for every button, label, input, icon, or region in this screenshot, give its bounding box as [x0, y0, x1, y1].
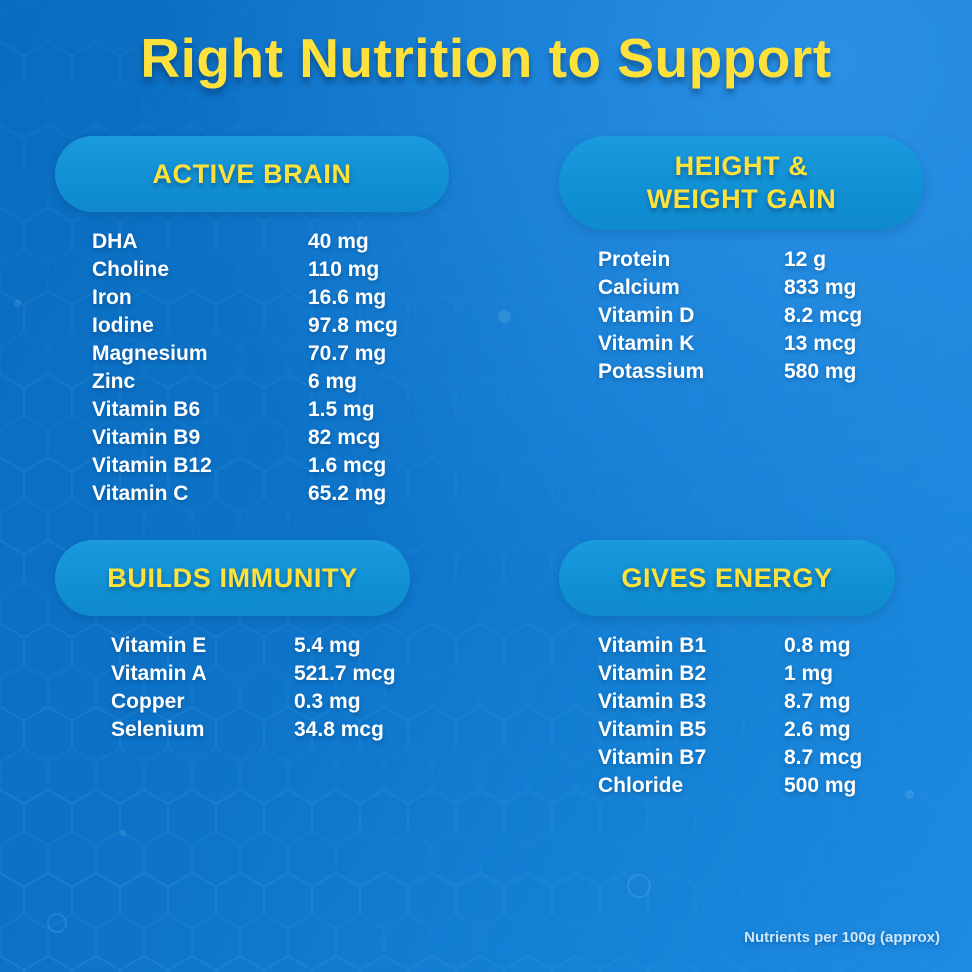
nutrient-amount: 8.7 mcg — [784, 744, 862, 772]
footer-note: Nutrients per 100g (approx) — [744, 929, 940, 946]
decorative-bubble — [120, 830, 126, 836]
decorative-bubble — [47, 913, 67, 933]
card-header-gives-energy: GIVES ENERGY — [559, 540, 895, 616]
nutrient-amount: 1 mg — [784, 660, 833, 688]
nutrient-row: Copper 0.3 mg — [111, 688, 410, 716]
nutrient-name: Vitamin B3 — [598, 688, 784, 716]
card-height-weight-gain: HEIGHT & WEIGHT GAIN Protein 12 g Calciu… — [559, 136, 924, 386]
card-heading-label: HEIGHT & WEIGHT GAIN — [647, 150, 837, 216]
card-header-builds-immunity: BUILDS IMMUNITY — [55, 540, 410, 616]
nutrition-infographic: Right Nutrition to Support ACTIVE BRAIN … — [0, 0, 972, 972]
nutrient-name: Magnesium — [92, 340, 308, 368]
nutrient-row: Vitamin D 8.2 mcg — [598, 302, 924, 330]
nutrient-name: Vitamin B2 — [598, 660, 784, 688]
nutrient-name: Vitamin B12 — [92, 452, 308, 480]
nutrient-name: Vitamin K — [598, 330, 784, 358]
nutrient-amount: 5.4 mg — [294, 632, 361, 660]
nutrient-row: Vitamin C 65.2 mg — [92, 480, 449, 508]
nutrient-name: Potassium — [598, 358, 784, 386]
nutrient-amount: 82 mcg — [308, 424, 380, 452]
nutrient-amount: 13 mcg — [784, 330, 856, 358]
nutrient-name: Chloride — [598, 772, 784, 800]
nutrient-row: Vitamin B2 1 mg — [598, 660, 895, 688]
card-heading-label: BUILDS IMMUNITY — [107, 562, 357, 595]
nutrient-name: Protein — [598, 246, 784, 274]
card-heading-line-2: WEIGHT GAIN — [647, 184, 837, 214]
nutrient-row: Vitamin K 13 mcg — [598, 330, 924, 358]
nutrient-list-gives-energy: Vitamin B1 0.8 mg Vitamin B2 1 mg Vitami… — [559, 632, 895, 800]
nutrient-amount: 110 mg — [308, 256, 379, 284]
nutrient-row: Vitamin B9 82 mcg — [92, 424, 449, 452]
nutrient-name: Vitamin B7 — [598, 744, 784, 772]
nutrient-amount: 40 mg — [308, 228, 369, 256]
nutrient-name: Vitamin B6 — [92, 396, 308, 424]
card-heading-label: GIVES ENERGY — [621, 562, 832, 595]
nutrient-name: Choline — [92, 256, 308, 284]
nutrient-row: Vitamin B6 1.5 mg — [92, 396, 449, 424]
nutrient-list-builds-immunity: Vitamin E 5.4 mg Vitamin A 521.7 mcg Cop… — [55, 632, 410, 744]
nutrient-row: Zinc 6 mg — [92, 368, 449, 396]
nutrient-row: Protein 12 g — [598, 246, 924, 274]
nutrient-row: Vitamin B12 1.6 mcg — [92, 452, 449, 480]
nutrient-row: Vitamin A 521.7 mcg — [111, 660, 410, 688]
nutrient-row: Chloride 500 mg — [598, 772, 895, 800]
nutrient-row: Potassium 580 mg — [598, 358, 924, 386]
card-active-brain: ACTIVE BRAIN DHA 40 mg Choline 110 mg Ir… — [55, 136, 449, 508]
nutrient-name: Selenium — [111, 716, 294, 744]
nutrient-name: Vitamin A — [111, 660, 294, 688]
nutrient-amount: 1.6 mcg — [308, 452, 386, 480]
nutrient-name: Vitamin B5 — [598, 716, 784, 744]
decorative-bubble — [498, 310, 511, 323]
nutrient-amount: 34.8 mcg — [294, 716, 384, 744]
nutrient-row: Magnesium 70.7 mg — [92, 340, 449, 368]
nutrient-row: Vitamin E 5.4 mg — [111, 632, 410, 660]
nutrient-amount: 6 mg — [308, 368, 357, 396]
page-title: Right Nutrition to Support — [0, 26, 972, 90]
nutrient-amount: 0.3 mg — [294, 688, 361, 716]
nutrient-name: Copper — [111, 688, 294, 716]
nutrient-row: Iron 16.6 mg — [92, 284, 449, 312]
nutrient-amount: 0.8 mg — [784, 632, 851, 660]
nutrient-name: Calcium — [598, 274, 784, 302]
nutrient-row: Calcium 833 mg — [598, 274, 924, 302]
nutrient-name: Iodine — [92, 312, 308, 340]
nutrient-amount: 8.7 mg — [784, 688, 851, 716]
nutrient-row: Choline 110 mg — [92, 256, 449, 284]
card-builds-immunity: BUILDS IMMUNITY Vitamin E 5.4 mg Vitamin… — [55, 540, 410, 744]
nutrient-row: Vitamin B5 2.6 mg — [598, 716, 895, 744]
nutrient-row: Vitamin B3 8.7 mg — [598, 688, 895, 716]
nutrient-amount: 70.7 mg — [308, 340, 386, 368]
nutrient-amount: 2.6 mg — [784, 716, 851, 744]
nutrient-name: DHA — [92, 228, 308, 256]
decorative-bubble — [14, 300, 21, 307]
nutrient-name: Vitamin B9 — [92, 424, 308, 452]
card-header-active-brain: ACTIVE BRAIN — [55, 136, 449, 212]
nutrient-name: Iron — [92, 284, 308, 312]
nutrient-amount: 580 mg — [784, 358, 856, 386]
nutrient-name: Vitamin C — [92, 480, 308, 508]
nutrient-amount: 833 mg — [784, 274, 856, 302]
nutrient-row: DHA 40 mg — [92, 228, 449, 256]
nutrient-row: Vitamin B7 8.7 mcg — [598, 744, 895, 772]
decorative-bubble — [905, 790, 914, 799]
nutrient-amount: 16.6 mg — [308, 284, 386, 312]
nutrient-amount: 1.5 mg — [308, 396, 375, 424]
nutrient-amount: 12 g — [784, 246, 826, 274]
nutrient-amount: 521.7 mcg — [294, 660, 396, 688]
nutrient-amount: 97.8 mcg — [308, 312, 398, 340]
nutrient-row: Iodine 97.8 mcg — [92, 312, 449, 340]
card-header-height-weight-gain: HEIGHT & WEIGHT GAIN — [559, 136, 924, 230]
nutrient-list-active-brain: DHA 40 mg Choline 110 mg Iron 16.6 mg Io… — [55, 228, 449, 508]
nutrient-name: Vitamin E — [111, 632, 294, 660]
card-gives-energy: GIVES ENERGY Vitamin B1 0.8 mg Vitamin B… — [559, 540, 895, 800]
decorative-bubble — [627, 874, 651, 898]
nutrient-name: Vitamin D — [598, 302, 784, 330]
nutrient-list-height-weight-gain: Protein 12 g Calcium 833 mg Vitamin D 8.… — [559, 246, 924, 386]
nutrient-amount: 65.2 mg — [308, 480, 386, 508]
nutrient-row: Selenium 34.8 mcg — [111, 716, 410, 744]
nutrient-row: Vitamin B1 0.8 mg — [598, 632, 895, 660]
nutrient-name: Vitamin B1 — [598, 632, 784, 660]
card-heading-label: ACTIVE BRAIN — [152, 158, 351, 191]
card-heading-line-1: HEIGHT & — [675, 151, 809, 181]
nutrient-name: Zinc — [92, 368, 308, 396]
nutrient-amount: 8.2 mcg — [784, 302, 862, 330]
nutrient-amount: 500 mg — [784, 772, 856, 800]
